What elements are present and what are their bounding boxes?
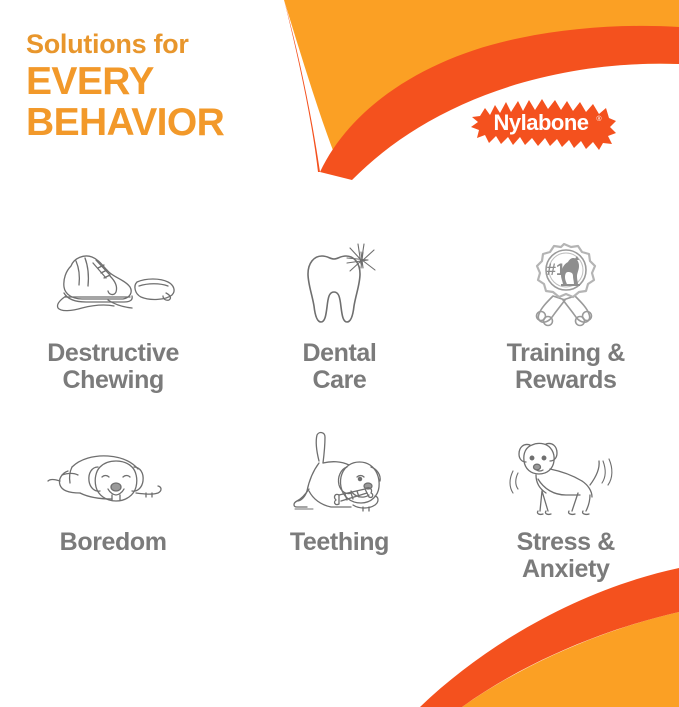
logo-wordmark: Nylabone xyxy=(493,110,588,135)
nylabone-logo: Nylabone ® xyxy=(466,88,621,160)
sparkling-tooth-icon xyxy=(284,238,394,330)
bottom-swoosh-dark xyxy=(420,568,679,707)
behavior-cell-boredom[interactable]: Boredom xyxy=(0,431,226,582)
behavior-label: Boredom xyxy=(60,529,167,556)
standing-dog-wagging-icon xyxy=(506,431,626,517)
headline-line-2: EVERY xyxy=(26,61,326,102)
lying-dog-icon xyxy=(38,431,188,517)
chewed-shoe-icon xyxy=(38,238,188,330)
behavior-grid-row: Boredom xyxy=(0,431,679,582)
behavior-label-line: Rewards xyxy=(507,367,625,394)
behavior-label-line: Training & xyxy=(507,340,625,367)
logo-trademark-symbol: ® xyxy=(596,115,602,123)
award-rosette-dog-icon: #1 xyxy=(511,238,621,330)
behavior-cell-teething[interactable]: Teething xyxy=(226,431,452,582)
behavior-label: Stress & Anxiety xyxy=(517,529,615,582)
headline-line-1: Solutions for xyxy=(26,30,326,59)
puppy-chewing-bone-icon xyxy=(279,431,399,517)
behavior-label-line: Dental xyxy=(302,340,376,367)
behavior-grid-row: Destructive Chewing xyxy=(0,238,679,393)
behavior-label-line: Care xyxy=(302,367,376,394)
behavior-label: Training & Rewards xyxy=(507,340,625,393)
behavior-cell-dental-care[interactable]: Dental Care xyxy=(226,238,452,393)
poster-canvas: Solutions for EVERY BEHAVIOR Nylabone ® xyxy=(0,0,679,707)
behavior-grid: Destructive Chewing xyxy=(0,238,679,582)
behavior-label-line: Chewing xyxy=(47,367,179,394)
behavior-label-line: Teething xyxy=(290,529,389,556)
rosette-rank-text: #1 xyxy=(546,260,565,279)
behavior-label-line: Stress & xyxy=(517,529,615,556)
behavior-label: Teething xyxy=(290,529,389,556)
behavior-cell-stress-anxiety[interactable]: Stress & Anxiety xyxy=(453,431,679,582)
behavior-label-line: Destructive xyxy=(47,340,179,367)
behavior-label-line: Anxiety xyxy=(517,556,615,583)
behavior-cell-training-rewards[interactable]: #1 Training & Rewards xyxy=(453,238,679,393)
headline-line-3: BEHAVIOR xyxy=(26,102,326,143)
behavior-cell-destructive-chewing[interactable]: Destructive Chewing xyxy=(0,238,226,393)
behavior-label: Dental Care xyxy=(302,340,376,393)
bottom-swoosh-light xyxy=(462,612,679,707)
behavior-label-line: Boredom xyxy=(60,529,167,556)
behavior-label: Destructive Chewing xyxy=(47,340,179,393)
headline-block: Solutions for EVERY BEHAVIOR xyxy=(26,30,326,144)
